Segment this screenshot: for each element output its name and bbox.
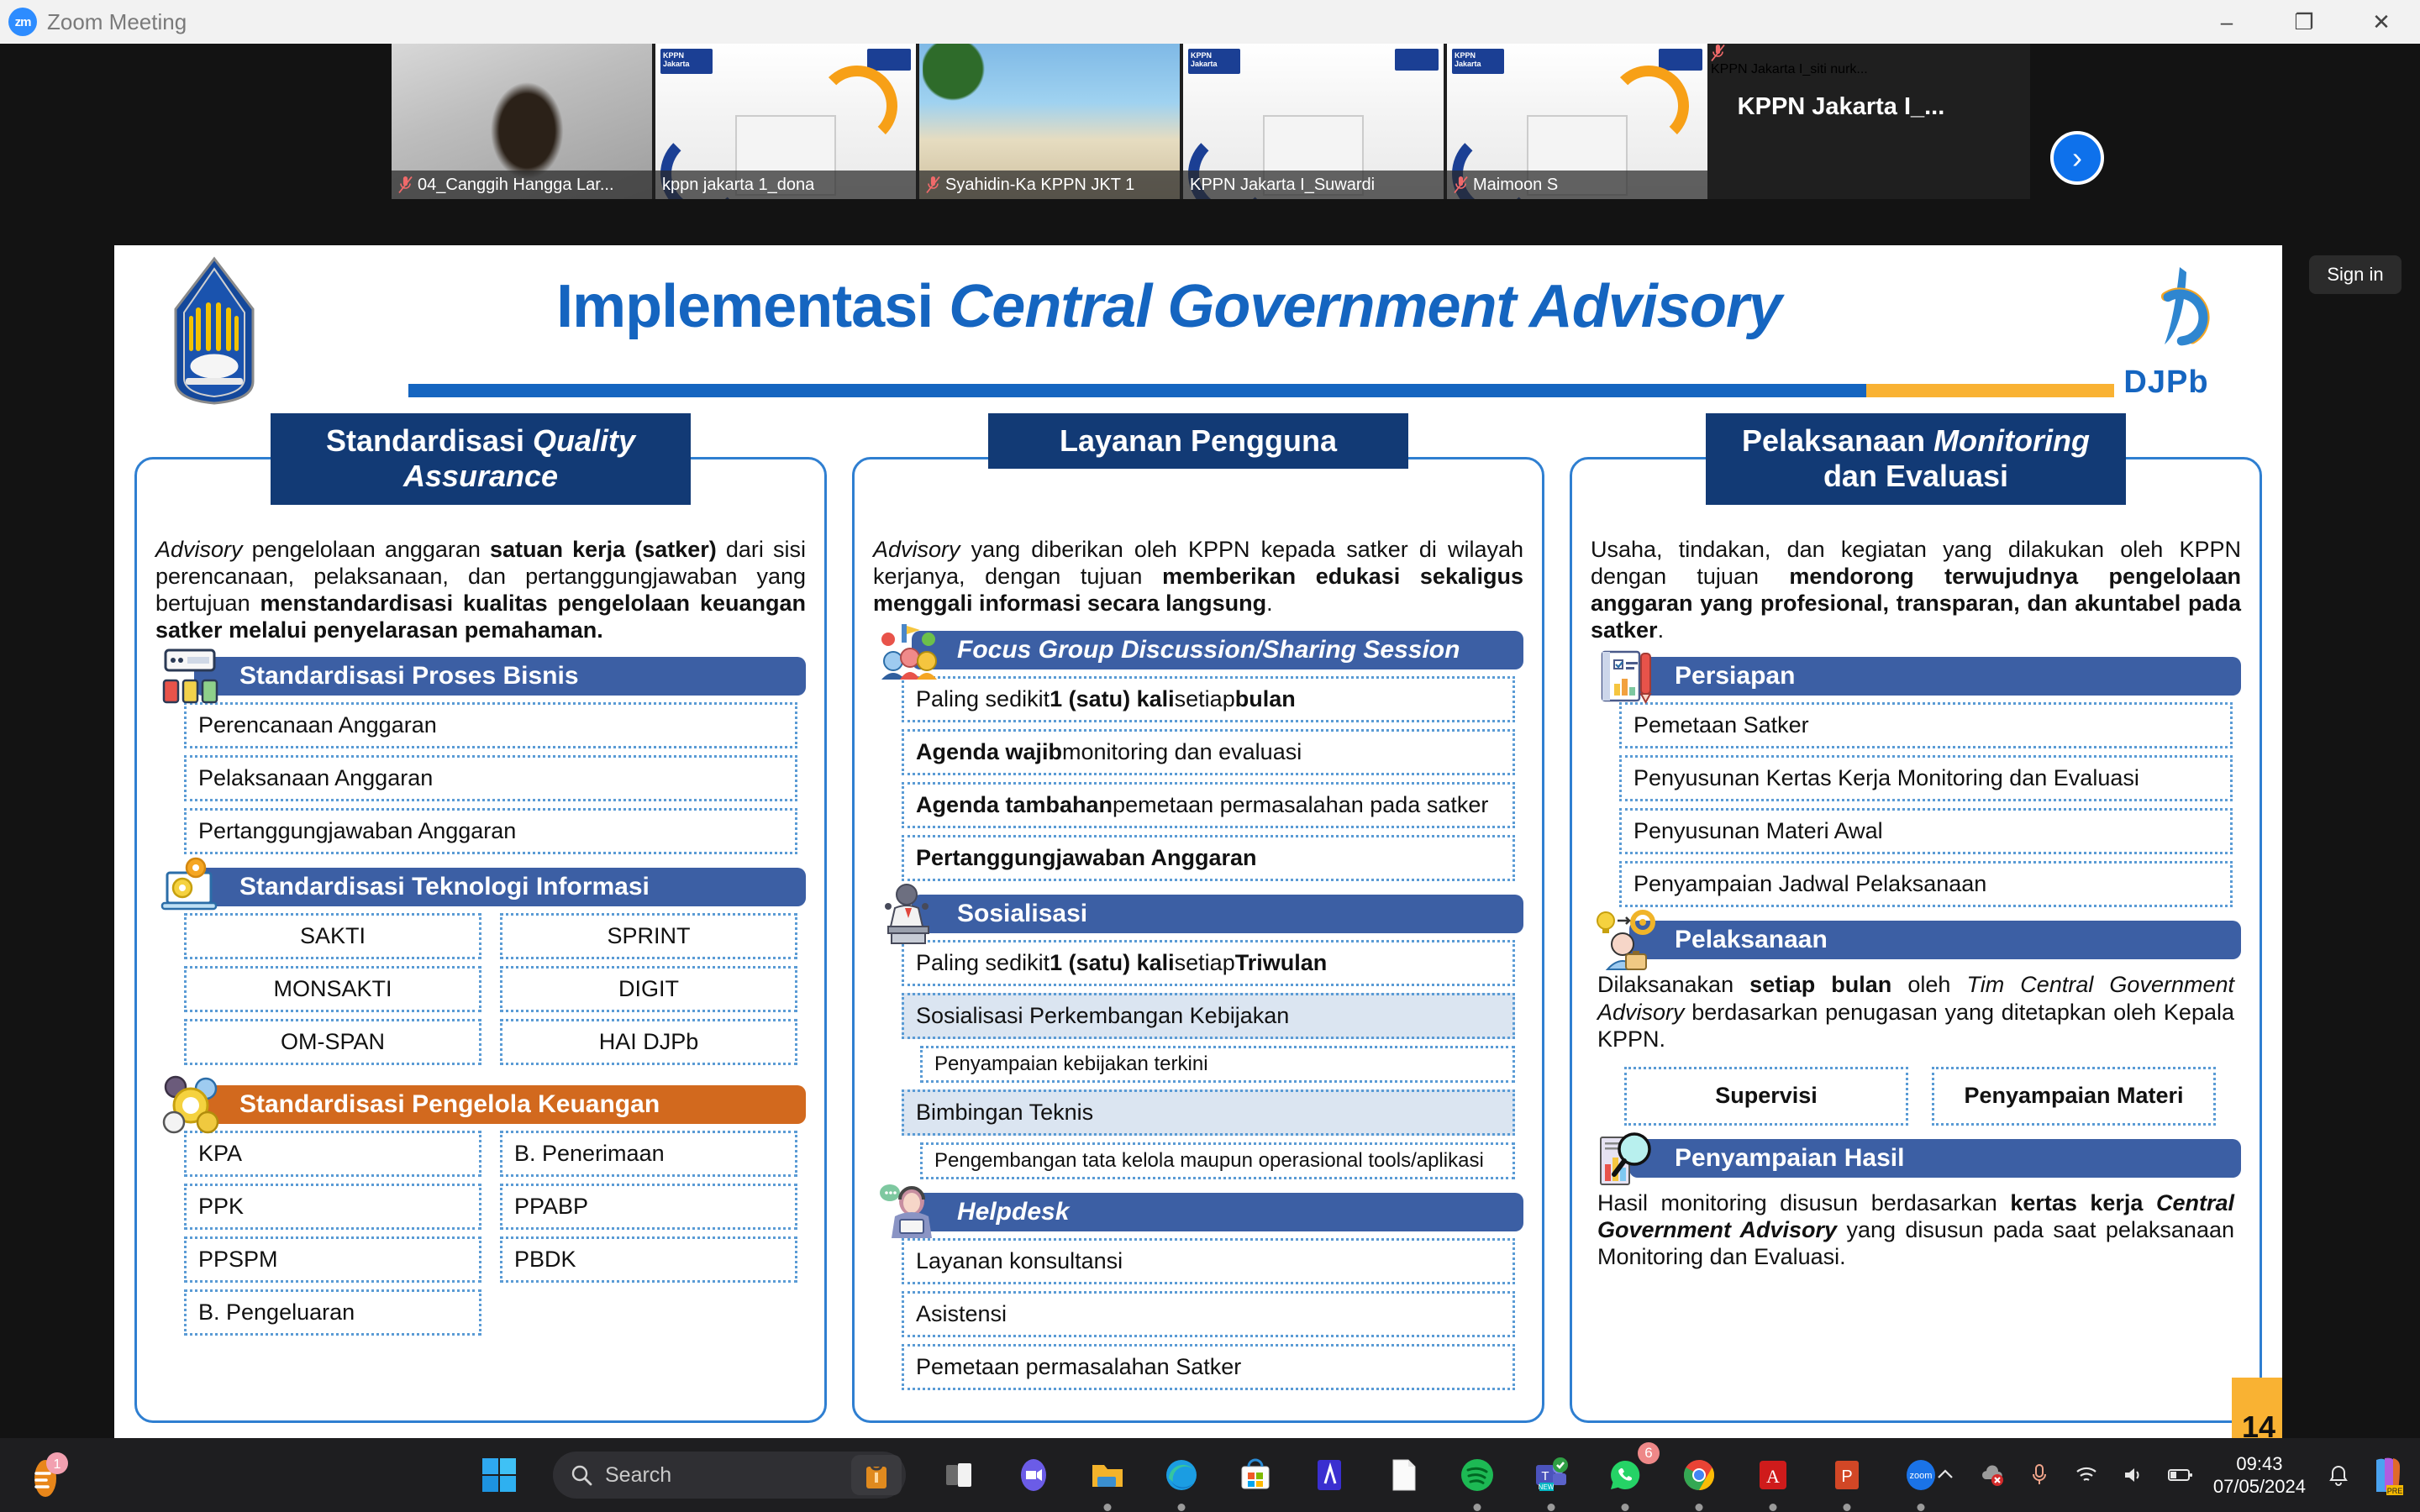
task-view-icon[interactable] [930,1446,989,1504]
list-item[interactable]: SAKTI [184,913,481,959]
section-items: Paling sedikit 1 (satu) kali setiap bula… [873,676,1523,881]
list-item[interactable]: Pertanggungjawaban Anggaran [184,808,797,854]
svg-text:A: A [1766,1466,1780,1487]
list-item[interactable]: Penyusunan Kertas Kerja Monitoring dan E… [1619,755,2233,801]
notepad-icon[interactable] [1374,1446,1433,1504]
list-item[interactable]: Agenda wajib monitoring dan evaluasi [902,729,1515,775]
list-item[interactable]: Penyampaian Jadwal Pelaksanaan [1619,861,2233,907]
column-title-plain: Layanan Pengguna [1060,423,1337,458]
battery-icon[interactable] [2166,1461,2195,1489]
participant-tile-active-speaker[interactable]: KPPNJakarta kppn jakarta 1_dona [655,44,916,199]
wifi-icon[interactable] [2072,1461,2101,1489]
running-indicator [1178,1504,1186,1511]
laptop-gear-icon [159,854,224,920]
zoom-stage: 04_Canggih Hangga Lar... KPPNJakarta kpp… [0,44,2420,1438]
headset-agent-icon [876,1179,942,1245]
participant-name: Maimoon S [1473,176,1558,195]
section-items: Pemetaan Satker Penyusunan Kertas Kerja … [1591,702,2241,907]
list-item[interactable]: KPA [184,1131,481,1177]
whatsapp-icon[interactable]: 6 [1596,1446,1655,1504]
column-title: Standardisasi Quality Assurance [271,413,691,505]
chevron-up-icon[interactable] [1931,1461,1960,1489]
search-placeholder: Search [605,1463,671,1488]
column-intro-text: Advisory yang diberikan oleh KPPN kepada… [873,537,1523,617]
list-subitem[interactable]: Penyampaian kebijakan terkini [920,1046,1515,1083]
section-penyampaian-hasil: Penyampaian Hasil [1591,1139,2241,1178]
svg-text:T: T [1541,1469,1549,1483]
kppn-badge-icon [867,49,911,71]
kppn-jakarta-logo-icon: KPPNJakarta [660,49,713,74]
zoom-title-bar: zm Zoom Meeting – ❐ ✕ [0,0,2420,44]
kppn-badge-icon [1659,49,1702,71]
djpb-wordmark: DJPb [2099,365,2233,401]
section-items: Perencanaan Anggaran Pelaksanaan Anggara… [155,702,806,854]
microsoft-edge-icon[interactable] [1152,1446,1211,1504]
section-items: Layanan konsultansi Asistensi Pemetaan p… [873,1238,1523,1390]
autocad-icon[interactable] [1300,1446,1359,1504]
column-intro-text: Advisory pengelolaan anggaran satuan ker… [155,537,806,643]
clock[interactable]: 09:43 07/05/2024 [2213,1452,2306,1499]
mic-muted-icon [398,176,413,194]
window-title: Zoom Meeting [47,9,187,35]
section-items: KPA PPK PPSPM B. Pengeluaran B. Penerima… [155,1131,806,1342]
column-title: Layanan Pengguna [988,413,1408,469]
running-indicator [1844,1504,1851,1511]
participant-name: 04_Canggih Hangga Lar... [418,176,614,195]
list-item[interactable]: DIGIT [500,966,797,1012]
filmstrip-next-button[interactable]: › [2050,131,2104,185]
section-header: Standardisasi Proses Bisnis [194,657,806,696]
list-item[interactable]: HAI DJPb [500,1019,797,1065]
microphone-icon[interactable] [2025,1461,2054,1489]
list-item[interactable]: PBDK [500,1236,797,1283]
column-monitoring-evaluasi: Pelaksanaan Monitoring dan Evaluasi Usah… [1570,413,2262,1453]
list-item[interactable]: PPK [184,1184,481,1230]
file-explorer-icon[interactable] [1078,1446,1137,1504]
list-item[interactable]: Pemetaan Satker [1619,702,2233,748]
section-pelaksanaan: Pelaksanaan [1591,921,2241,959]
clock-time: 09:43 [2236,1453,2282,1474]
participant-tile[interactable]: Syahidin-Ka KPPN JKT 1 [919,44,1180,199]
section-header: Pelaksanaan [1629,921,2241,959]
list-subitem[interactable]: Pengembangan tata kelola maupun operasio… [920,1142,1515,1179]
participant-namebar: kppn jakarta 1_dona [655,171,916,199]
participant-name: KPPN Jakarta I_Suwardi [1190,176,1375,195]
sign-in-button[interactable]: Sign in [2309,255,2402,294]
column-layanan-pengguna: Layanan Pengguna Advisory yang diberikan… [852,413,1544,1453]
column-body: Advisory yang diberikan oleh KPPN kepada… [852,457,1544,1423]
list-item[interactable]: Paling sedikit 1 (satu) kali setiap bula… [902,676,1515,722]
list-item[interactable]: B. Pengeluaran [184,1289,481,1336]
participant-namebar: Maimoon S [1447,171,1707,199]
whatsapp-unread-badge: 6 [1638,1442,1660,1464]
system-tray: 09:43 07/05/2024 PRE [1931,1438,2403,1512]
list-item[interactable]: Paling sedikit 1 (satu) kali setiap Triw… [902,940,1515,986]
participant-tile[interactable]: KPPNJakarta KPPN Jakarta I_Suwardi [1183,44,1444,199]
kppn-jakarta-logo-icon: KPPNJakarta [1452,49,1504,74]
list-item[interactable]: PPABP [500,1184,797,1230]
mic-muted-icon [1454,176,1468,194]
mic-muted-icon [926,176,940,194]
clipboard-chart-icon [1594,643,1660,709]
microsoft-teams-icon[interactable]: TNEW [1522,1446,1581,1504]
title-underline-accent [1866,384,2114,397]
running-indicator [1548,1504,1555,1511]
participant-tile[interactable]: KPPNJakarta Maimoon S [1447,44,1707,199]
participant-display-name: KPPN Jakarta I_... [1711,44,1971,171]
slide-title-italic: Central Government Advisory [949,273,1781,340]
list-item[interactable]: Pemetaan permasalahan Satker [902,1344,1515,1390]
microsoft-store-icon[interactable] [1226,1446,1285,1504]
section-header: Persiapan [1629,657,2241,696]
list-item[interactable]: Pertanggungjawaban Anggaran [902,835,1515,881]
participant-tile[interactable]: 04_Canggih Hangga Lar... [392,44,652,199]
section-header: Penyampaian Hasil [1629,1139,2241,1178]
adobe-acrobat-icon[interactable]: A [1744,1446,1802,1504]
idea-person-icon [1594,907,1660,973]
mic-muted-icon [1711,44,1971,62]
section-header: Helpdesk [912,1193,1523,1231]
section-paragraph: Dilaksanakan setiap bulan oleh Tim Centr… [1597,971,2234,1053]
search-input[interactable]: Search [553,1452,906,1499]
list-item[interactable]: PPSPM [184,1236,481,1283]
list-item[interactable]: Perencanaan Anggaran [184,702,797,748]
search-icon [570,1463,593,1487]
list-item[interactable]: Asistensi [902,1291,1515,1337]
kppn-badge-icon [1395,49,1439,71]
column-title-tail: dan Evaluasi [1823,459,2008,493]
title-underline-bar [408,384,2114,397]
participant-filmstrip: 04_Canggih Hangga Lar... KPPNJakarta kpp… [392,44,2030,199]
list-item[interactable]: B. Penerimaan [500,1131,797,1177]
section-header: Standardisasi Pengelola Keuangan [194,1085,806,1124]
list-item-highlighted[interactable]: Bimbingan Teknis [902,1089,1515,1136]
onedrive-error-icon[interactable] [1978,1461,2007,1489]
section-proses-bisnis: Standardisasi Proses Bisnis [155,657,806,696]
start-windows-icon[interactable] [470,1446,529,1504]
list-item[interactable]: Agenda tambahan pemetaan permasalahan pa… [902,782,1515,828]
section-header: Sosialisasi [912,895,1523,933]
section-header: Standardisasi Teknologi Informasi [194,868,806,906]
list-item-highlighted[interactable]: Sosialisasi Perkembangan Kebijakan [902,993,1515,1039]
participant-tile-no-video[interactable]: KPPN Jakarta I_... KPPN Jakarta I_siti n… [1711,44,1971,199]
list-item[interactable]: OM-SPAN [184,1019,481,1065]
section-persiapan: Persiapan [1591,657,2241,696]
participant-name: kppn jakarta 1_dona [662,176,814,195]
participant-name: Syahidin-Ka KPPN JKT 1 [945,176,1134,195]
running-indicator [1622,1504,1629,1511]
section-header: Focus Group Discussion/Sharing Session [912,631,1523,669]
copilot-icon[interactable]: PRE [2371,1455,2403,1495]
magnifier-chart-icon [1594,1126,1660,1191]
svg-text:P: P [1841,1467,1852,1486]
zoom-workplace-icon[interactable] [1004,1446,1063,1504]
zoom-logo-icon: zm [8,8,37,36]
slide-columns: Standardisasi Quality Assurance Advisory… [114,413,2282,1453]
shared-screen-slide: Implementasi Central Government Advisory… [114,245,2282,1453]
taskbar-icons: Search [462,1446,1958,1504]
kppn-jakarta-logo-icon: KPPNJakarta [1188,49,1240,74]
column-quality-assurance: Standardisasi Quality Assurance Advisory… [134,413,827,1453]
section-helpdesk: Helpdesk [873,1193,1523,1231]
list-item[interactable]: Layanan konsultansi [902,1238,1515,1284]
powerpoint-icon[interactable]: P [1818,1446,1876,1504]
section-fgd: Focus Group Discussion/Sharing Session [873,631,1523,669]
running-indicator [1918,1504,1925,1511]
section-items: Paling sedikit 1 (satu) kali setiap Triw… [873,940,1523,1179]
participant-namebar: KPPN Jakarta I_Suwardi [1183,171,1444,199]
running-indicator [1474,1504,1481,1511]
slide-title-plain: Implementasi [556,273,949,340]
list-item[interactable]: Penyusunan Materi Awal [1619,808,2233,854]
svg-text:zoom: zoom [1910,1471,1933,1481]
column-body: Advisory pengelolaan anggaran satuan ker… [134,457,827,1423]
section-paragraph: Hasil monitoring disusun berdasarkan ker… [1597,1189,2234,1271]
slide-page-number: 14 [2242,1410,2275,1445]
column-intro-text: Usaha, tindakan, dan kegiatan yang dilak… [1591,537,2241,643]
maximize-button[interactable]: ❐ [2265,0,2343,44]
podium-speaker-icon [876,881,942,947]
clock-date: 07/05/2024 [2213,1476,2306,1497]
windows-taskbar: 1 Search [0,1438,2420,1512]
running-indicator [1104,1504,1112,1511]
participant-namebar: 04_Canggih Hangga Lar... [392,171,652,199]
volume-icon[interactable] [2119,1461,2148,1489]
djpb-logo: DJPb [2099,264,2233,401]
list-item[interactable]: Penyampaian Materi [1932,1067,2216,1126]
group-people-icon [876,617,942,683]
list-item[interactable]: MONSAKTI [184,966,481,1012]
column-title-italic: Monitoring [1933,423,2090,458]
kemenkeu-garuda-logo-icon [152,255,276,407]
list-item[interactable]: SPRINT [500,913,797,959]
minimize-button[interactable]: – [2188,0,2265,44]
slide-title: Implementasi Central Government Advisory [392,272,1946,341]
running-indicator [1770,1504,1777,1511]
section-pair-items: Supervisi Penyampaian Materi [1624,1067,2216,1126]
column-body: Usaha, tindakan, dan kegiatan yang dilak… [1570,457,2262,1423]
palm-tree-graphic [923,44,998,139]
running-indicator [1696,1504,1703,1511]
column-title-plain: Pelaksanaan [1742,423,1933,458]
search-highlight-icon[interactable] [851,1455,902,1495]
slide-header: Implementasi Central Government Advisory… [114,245,2282,413]
close-button[interactable]: ✕ [2343,0,2420,44]
section-items: SAKTI MONSAKTI OM-SPAN SPRINT DIGIT HAI … [155,913,806,1072]
section-sosialisasi: Sosialisasi [873,895,1523,933]
list-item[interactable]: Pelaksanaan Anggaran [184,755,797,801]
spotify-icon[interactable] [1448,1446,1507,1504]
people-gear-icon [159,1072,224,1137]
participant-namebar: Syahidin-Ka KPPN JKT 1 [919,171,1180,199]
section-pengelola-keuangan: Standardisasi Pengelola Keuangan [155,1085,806,1124]
taskbar-left-badge: 1 [54,1457,61,1472]
window-controls: – ❐ ✕ [2188,0,2420,44]
copilot-pre-tag: PRE [2387,1487,2403,1495]
list-item[interactable]: Supervisi [1624,1067,1908,1126]
servers-icon [159,643,224,709]
google-chrome-icon[interactable] [1670,1446,1728,1504]
djpb-mark-icon [2099,264,2233,365]
notification-bell-icon[interactable] [2324,1461,2353,1489]
teams-new-badge: NEW [1539,1483,1555,1491]
meet-now-icon[interactable]: 1 [25,1450,76,1500]
column-title: Pelaksanaan Monitoring dan Evaluasi [1706,413,2126,505]
column-title-plain: Standardisasi [326,423,533,458]
section-teknologi-informasi: Standardisasi Teknologi Informasi [155,868,806,906]
